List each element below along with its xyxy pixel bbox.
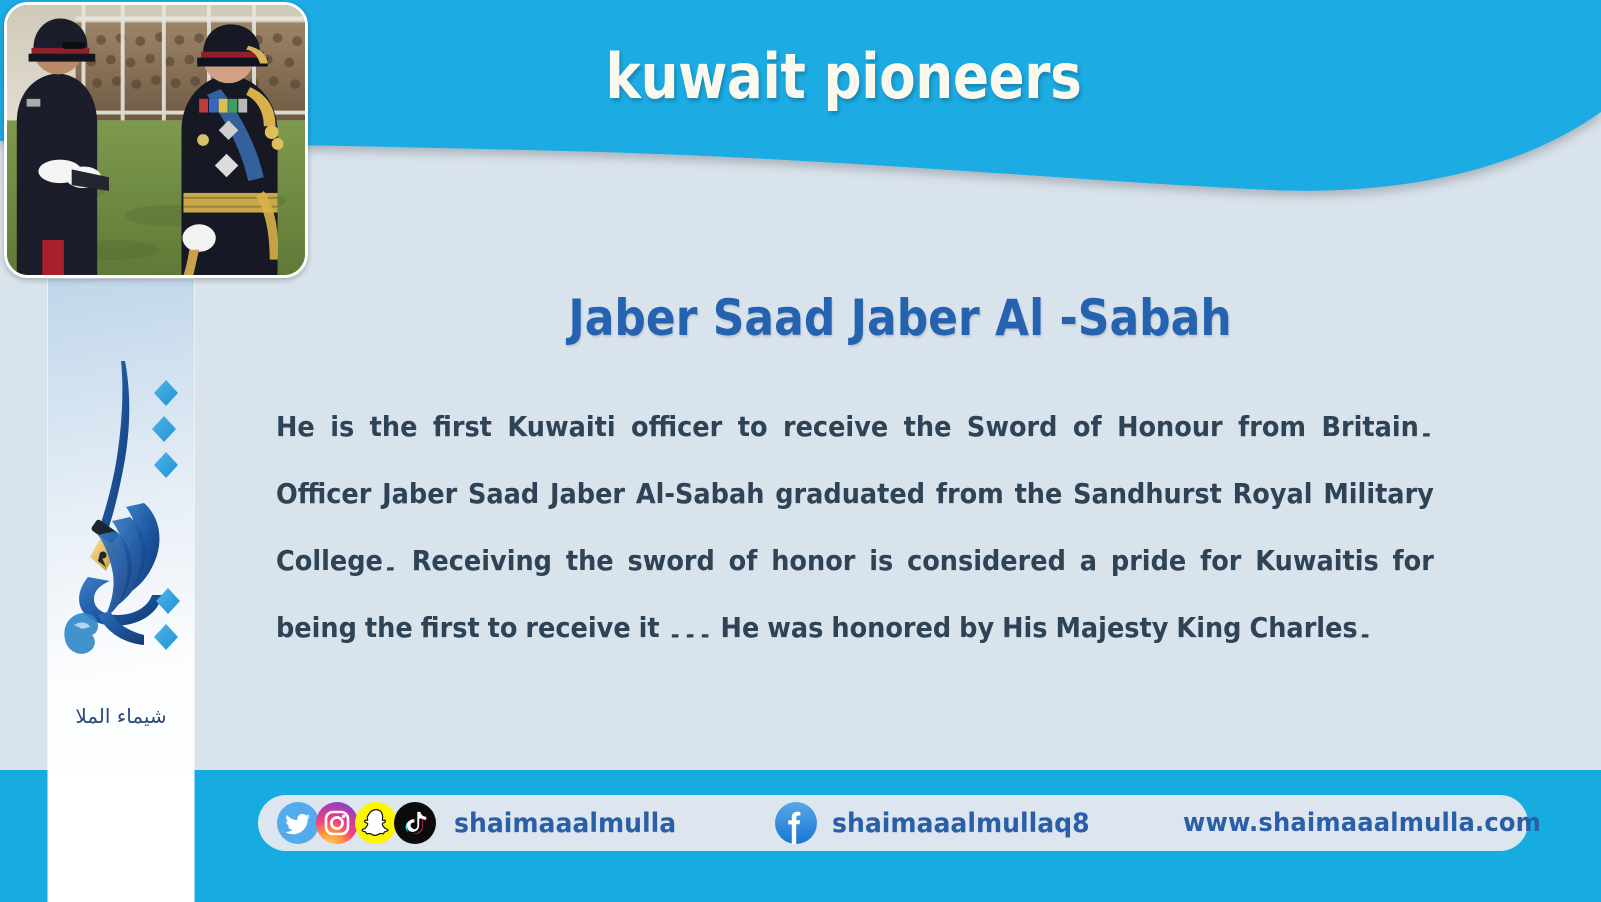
social-handle-label[interactable]: shaimaaalmulla	[454, 808, 676, 839]
website-group: www.shaimaaalmulla.com	[1183, 808, 1568, 838]
page-title: kuwait pioneers	[112, 40, 1489, 113]
article-headline: Jaber Saad Jaber Al -Sabah	[319, 289, 1481, 347]
article-body: He is the first Kuwaiti officer to recei…	[276, 394, 1434, 662]
photo-illustration	[7, 5, 305, 275]
facebook-icon[interactable]	[774, 801, 818, 845]
logo-panel-footer-extension	[48, 770, 194, 902]
twitter-icon[interactable]	[276, 801, 320, 845]
poster-canvas: kuwait pioneers	[0, 0, 1601, 902]
calligraphy-logo-icon	[48, 319, 194, 699]
tiktok-icon[interactable]	[393, 801, 437, 845]
snapchat-icon[interactable]	[354, 801, 398, 845]
facebook-handle-label[interactable]: shaimaaalmullaq8	[832, 808, 1090, 839]
social-icons-row	[276, 801, 432, 845]
footer-contact-bar: shaimaaalmulla shaimaaalmullaq8 www.sha	[258, 795, 1528, 851]
logo-caption: شيماء الملا	[48, 704, 194, 728]
facebook-group: shaimaaalmullaq8	[774, 801, 1109, 845]
photo-king-charles	[4, 2, 308, 278]
officer-figure	[17, 18, 109, 275]
website-url-label[interactable]: www.shaimaaalmulla.com	[1183, 808, 1541, 838]
instagram-icon[interactable]	[315, 801, 359, 845]
social-handles-group: shaimaaalmulla	[276, 801, 693, 845]
